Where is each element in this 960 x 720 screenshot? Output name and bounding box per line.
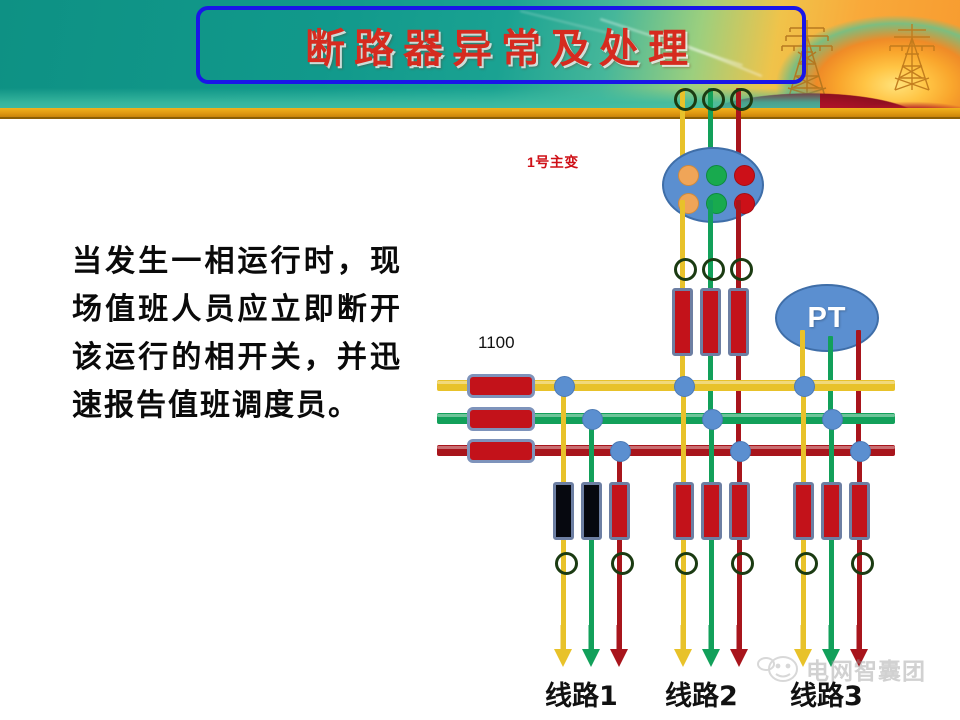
feeder3-disconnector-phase-a[interactable]	[795, 552, 818, 575]
incomer-breaker-phase-b[interactable]	[700, 288, 721, 356]
transformer-label: 1号主变	[527, 152, 579, 172]
feeder3-breaker-phase-b[interactable]	[821, 482, 842, 540]
feeder1-line-phase-c	[617, 450, 622, 650]
incomer-breaker-phase-a[interactable]	[672, 288, 693, 356]
feeder1-disconnector-phase-c[interactable]	[611, 552, 634, 575]
feeder1-tap-phase-a[interactable]	[554, 376, 575, 397]
feeder2-tap-phase-c[interactable]	[730, 441, 751, 462]
feeder2-breaker-phase-b[interactable]	[701, 482, 722, 540]
feeder3-disconnector-phase-c[interactable]	[851, 552, 874, 575]
feeder1-disconnector-phase-a[interactable]	[555, 552, 578, 575]
feeder1-tap-phase-c[interactable]	[610, 441, 631, 462]
feeder2-tap-phase-b[interactable]	[702, 409, 723, 430]
disconnector-top-phase-a[interactable]	[674, 88, 697, 111]
feeder2-tap-phase-a[interactable]	[674, 376, 695, 397]
disconnector-top-phase-c[interactable]	[730, 88, 753, 111]
transformer-terminal-a1	[678, 165, 699, 186]
incomer-disconnector-phase-a[interactable]	[674, 258, 697, 281]
watermark-logo-icon	[756, 654, 800, 684]
feeder2-arrow-phase-a	[672, 625, 694, 669]
feeder1-label: 线路1	[545, 674, 618, 713]
feeder3-tap-phase-a[interactable]	[794, 376, 815, 397]
feeder1-breaker-phase-c[interactable]	[609, 482, 630, 540]
feeder1-tap-phase-b[interactable]	[582, 409, 603, 430]
feeder1-arrow-phase-b	[580, 625, 602, 669]
single-line-diagram: 1号主变 PT	[0, 0, 960, 720]
feeder3-breaker-phase-a[interactable]	[793, 482, 814, 540]
watermark-text: 电网智囊团	[806, 652, 926, 686]
feeder3-line-phase-c	[857, 450, 862, 650]
feeder1-arrow-phase-c	[608, 625, 630, 669]
feeder1-breaker-phase-a[interactable]	[553, 482, 574, 540]
feeder2-breaker-phase-c[interactable]	[729, 482, 750, 540]
bus-breaker-phase-c[interactable]	[467, 439, 535, 463]
disconnector-top-phase-b[interactable]	[702, 88, 725, 111]
slide-canvas: 断路器异常及处理 当发生一相运行时，现场值班人员应立即断开该运行的相开关，并迅速…	[0, 0, 960, 720]
feeder3-tap-phase-c[interactable]	[850, 441, 871, 462]
feeder3-breaker-phase-c[interactable]	[849, 482, 870, 540]
incomer-breaker-phase-c[interactable]	[728, 288, 749, 356]
feeder3-tap-phase-b[interactable]	[822, 409, 843, 430]
bus-breaker-phase-b[interactable]	[467, 407, 535, 431]
incomer-disconnector-phase-c[interactable]	[730, 258, 753, 281]
transformer-terminal-b1	[706, 165, 727, 186]
pt-label: PT	[807, 302, 846, 335]
feeder2-arrow-phase-b	[700, 625, 722, 669]
feeder2-label: 线路2	[665, 674, 738, 713]
feeder1-arrow-phase-a	[552, 625, 574, 669]
feeder2-disconnector-phase-c[interactable]	[731, 552, 754, 575]
busbar-voltage-label: 1100	[478, 333, 515, 353]
pt-drop-phase-c	[856, 330, 861, 455]
transformer-symbol[interactable]	[662, 147, 764, 223]
pt-symbol[interactable]: PT	[775, 284, 879, 352]
feeder2-line-phase-c	[737, 450, 742, 650]
watermark: 电网智囊团	[756, 652, 926, 686]
feeder1-breaker-phase-b[interactable]	[581, 482, 602, 540]
feeder2-arrow-phase-c	[728, 625, 750, 669]
bus-breaker-phase-a[interactable]	[467, 374, 535, 398]
incomer-disconnector-phase-b[interactable]	[702, 258, 725, 281]
feeder2-breaker-phase-a[interactable]	[673, 482, 694, 540]
transformer-terminal-c1	[734, 165, 755, 186]
feeder2-disconnector-phase-a[interactable]	[675, 552, 698, 575]
